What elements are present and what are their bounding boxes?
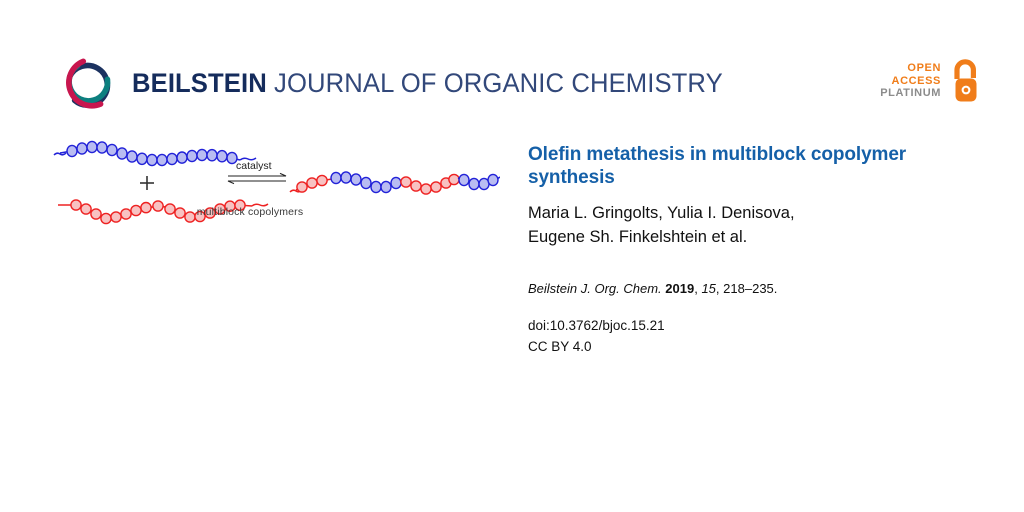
author-line-2: Eugene Sh. Finkelshtein et al.: [528, 226, 988, 249]
open-access-line-platinum: PLATINUM: [880, 87, 941, 100]
citation-journal: Beilstein J. Org. Chem.: [528, 281, 662, 296]
doi-text[interactable]: doi:10.3762/bjoc.15.21: [528, 316, 988, 337]
author-line-1: Maria L. Gringolts, Yulia I. Denisova,: [528, 202, 988, 225]
citation-sep-2: ,: [716, 281, 720, 296]
journal-wordmark: BEILSTEIN JOURNAL OF ORGANIC CHEMISTRY: [132, 70, 723, 97]
open-access-text: OPEN ACCESS PLATINUM: [880, 62, 941, 101]
citation-volume: 15: [701, 281, 715, 296]
doi-block: doi:10.3762/bjoc.15.21 CC BY 4.0: [528, 316, 988, 358]
reaction-scheme: catalyst: [40, 132, 500, 242]
catalyst-equilibrium-arrow: catalyst: [228, 160, 286, 184]
open-access-badge[interactable]: OPEN ACCESS PLATINUM: [880, 58, 982, 104]
wordmark-light: JOURNAL OF ORGANIC CHEMISTRY: [267, 68, 723, 98]
masthead: BEILSTEIN JOURNAL OF ORGANIC CHEMISTRY O…: [0, 0, 1024, 130]
citation-pages: 218–235.: [723, 281, 777, 296]
article-info: Olefin metathesis in multiblock copolyme…: [528, 143, 988, 358]
wordmark-bold: BEILSTEIN: [132, 68, 267, 98]
multiblock-copolymer-chain: [290, 172, 500, 194]
blue-polymer-chain: [54, 141, 256, 165]
beilstein-circle-logo-icon: [56, 52, 118, 114]
open-access-line-access: ACCESS: [880, 75, 941, 88]
license-text[interactable]: CC BY 4.0: [528, 337, 988, 358]
article-authors: Maria L. Gringolts, Yulia I. Denisova, E…: [528, 202, 988, 249]
citation-sep-1: ,: [694, 281, 698, 296]
article-title[interactable]: Olefin metathesis in multiblock copolyme…: [528, 143, 988, 189]
abstract-caption: multiblock copolymers: [40, 206, 460, 218]
citation-line: Beilstein J. Org. Chem. 2019, 15, 218–23…: [528, 280, 988, 298]
open-lock-icon: [948, 58, 982, 104]
graphical-abstract: catalyst: [40, 132, 500, 242]
citation-year: 2019: [665, 281, 694, 296]
open-access-line-open: OPEN: [880, 62, 941, 75]
catalyst-label: catalyst: [236, 160, 272, 172]
journal-brand[interactable]: BEILSTEIN JOURNAL OF ORGANIC CHEMISTRY: [56, 52, 754, 114]
plus-symbol: [140, 176, 154, 190]
